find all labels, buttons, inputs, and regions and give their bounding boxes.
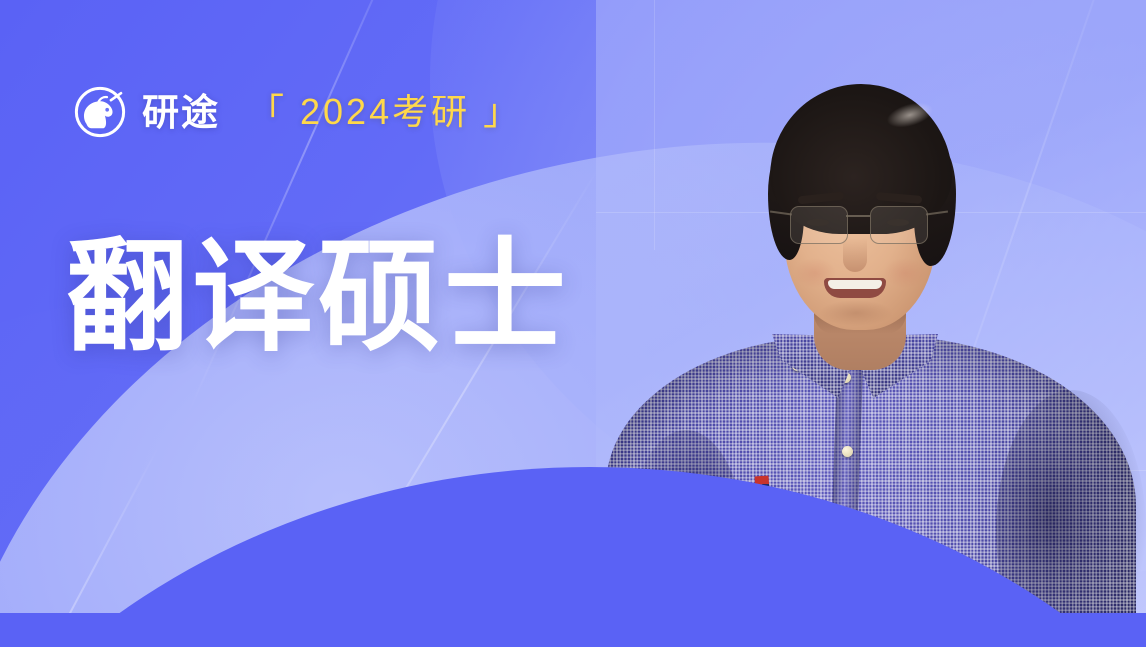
bottom-curve-mask [0,467,1146,647]
shirt-pocket-logo-icon [754,476,769,492]
glasses-lens-right [870,206,928,244]
hair-highlight [884,98,936,132]
page-title: 翻译硕士 [66,232,570,364]
shirt-button [844,520,855,531]
unicorn-head-circle-icon [72,84,128,140]
shirt-placket [826,352,863,647]
backdrop-seam [654,0,655,250]
cheek-left [794,258,836,288]
glasses-arm-left [770,210,792,215]
shirt [606,336,1136,647]
promo-banner: 研途 「 2024考研 」 翻译硕士 [0,0,1146,647]
shirt-button [840,372,851,383]
face [784,118,936,330]
mouth [824,278,886,298]
collar-button [892,360,903,371]
hair [770,84,952,234]
shirt-shadow [626,430,746,647]
shirt-button [842,446,853,457]
portrait-backdrop [596,0,1146,647]
ear-left [770,196,796,242]
hair-side-right [914,146,956,266]
eyebrow-left [798,192,845,205]
instructor-portrait [596,0,1146,647]
backdrop-seam [596,212,1146,213]
ear-right [919,196,945,242]
shirt-collar-right [846,334,938,398]
neck [814,300,906,370]
glasses-bridge [846,215,870,217]
eye-right [887,219,909,226]
glasses-arm-right [926,210,948,215]
campaign-tag: 「 2024考研 」 [248,94,522,130]
shirt-shadow [996,390,1146,647]
eyebrow-right [876,192,923,204]
brand-row: 研途 「 2024考研 」 [72,84,522,140]
light-streak-icon [813,365,1050,647]
bottom-bar [0,613,1146,647]
backdrop-seam [596,470,1146,471]
glasses-lens-left [790,206,848,244]
light-streak-icon [886,0,1135,600]
neck-shadow [814,300,906,334]
nose [843,238,867,272]
eye-left [807,219,829,226]
light-streak-icon [0,444,160,647]
brand-name: 研途 [142,94,220,131]
chin-shadow [820,300,892,326]
teeth [828,280,882,289]
cheek-right [884,258,926,288]
hair-side-left [768,150,804,260]
shirt-button [846,594,857,605]
collar-button [792,360,803,371]
shirt-collar-left [772,334,864,398]
